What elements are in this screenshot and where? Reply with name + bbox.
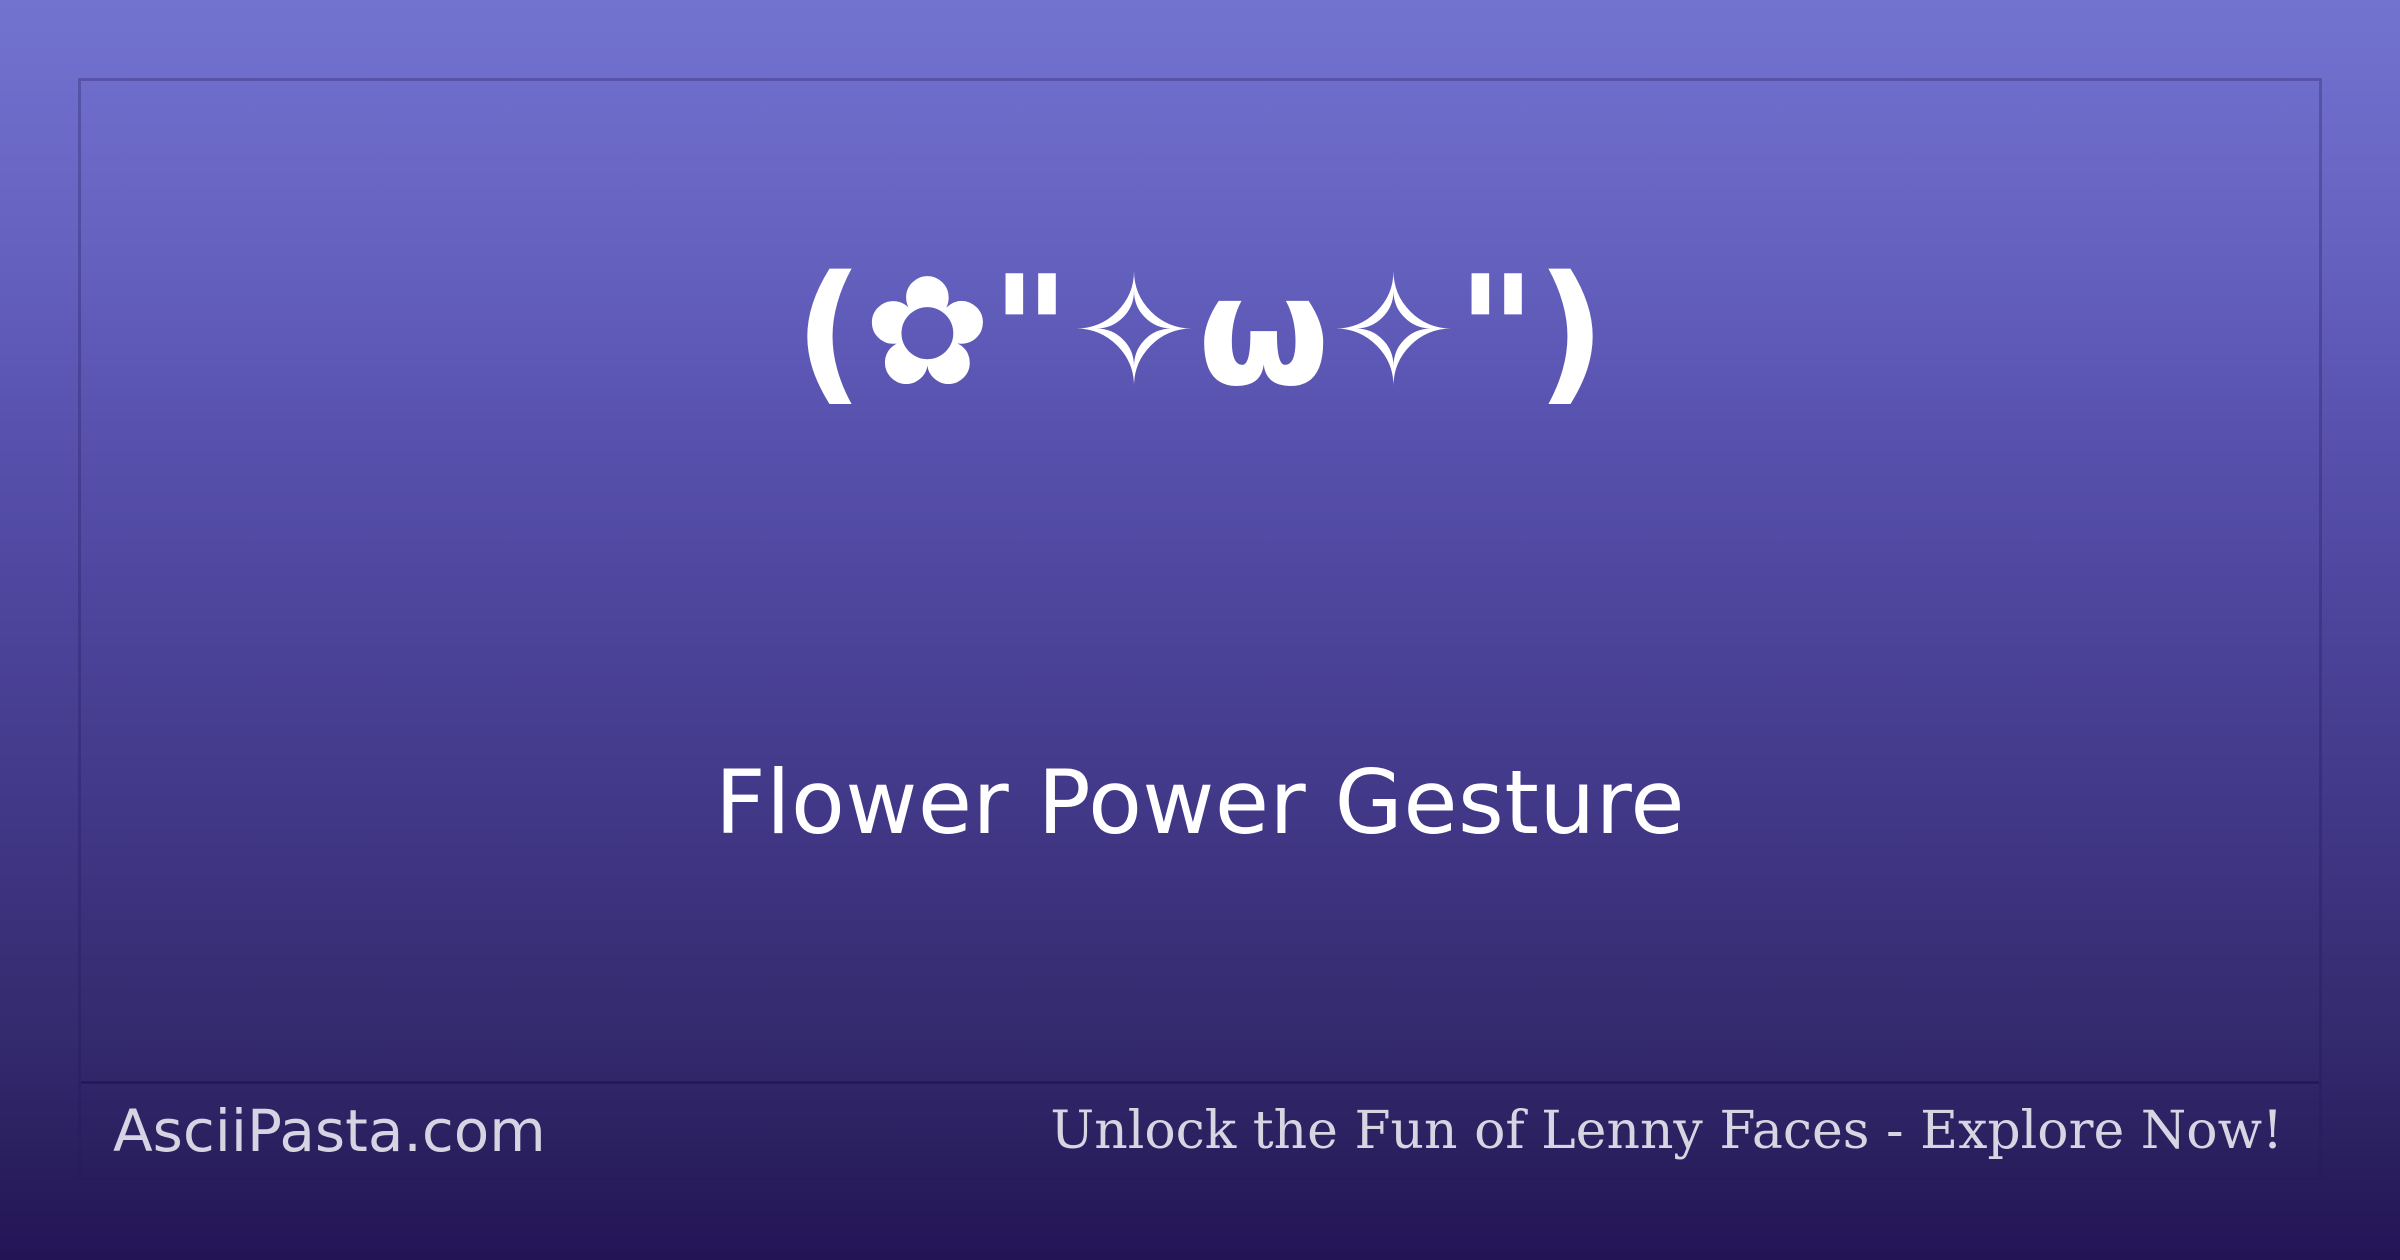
card-content: (✿"✧ω✧") Flower Power Gesture: [81, 81, 2319, 1081]
site-brand[interactable]: AsciiPasta.com: [113, 1102, 546, 1160]
page-title: Flower Power Gesture: [81, 759, 2319, 847]
footer-tagline: Unlock the Fun of Lenny Faces - Explore …: [1050, 1105, 2283, 1157]
card-footer: AsciiPasta.com Unlock the Fun of Lenny F…: [81, 1081, 2319, 1177]
kaomoji-display[interactable]: (✿"✧ω✧"): [81, 256, 2319, 408]
card-frame: (✿"✧ω✧") Flower Power Gesture AsciiPasta…: [78, 78, 2322, 1180]
kaomoji-share-card: (✿"✧ω✧") Flower Power Gesture AsciiPasta…: [0, 0, 2400, 1260]
